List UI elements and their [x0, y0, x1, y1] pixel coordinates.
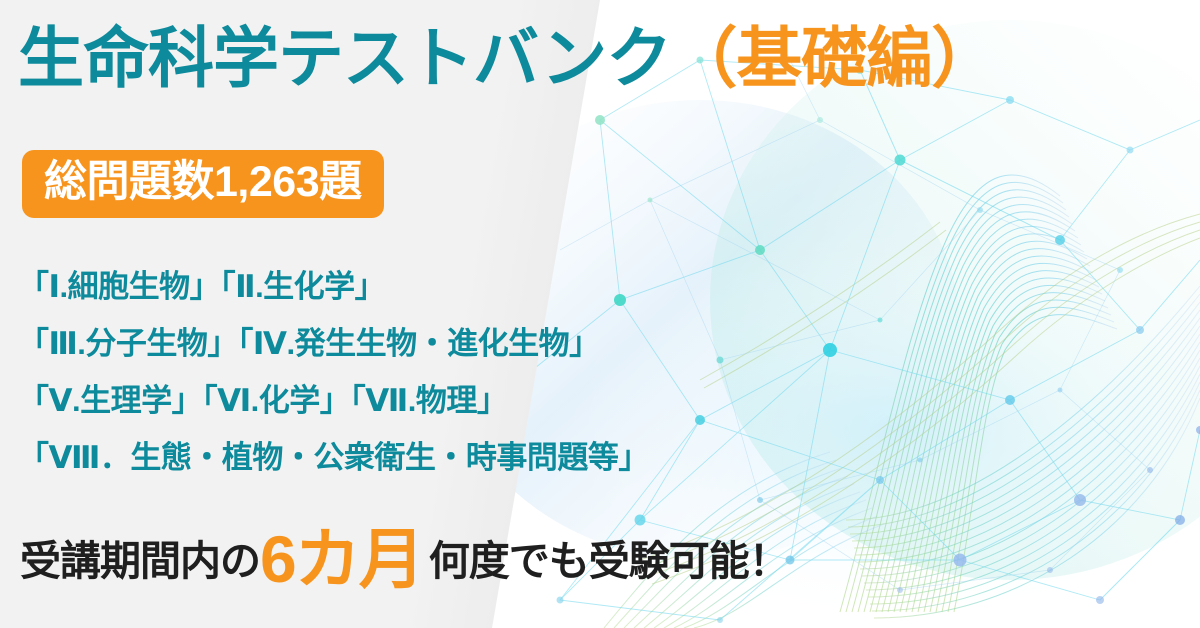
page-title: 生命科学テストバンク（基礎編） — [18, 24, 996, 93]
subject-line-2: 「Ⅲ.分子生物」「Ⅳ.発生生物・進化生物」 — [18, 315, 649, 372]
subject-line-3: 「Ⅴ.生理学」「Ⅵ.化学」「Ⅶ.物理」 — [18, 372, 649, 429]
tagline-lead: 受講期間内の — [20, 538, 260, 584]
question-count-badge: 総問題数1,263題 — [22, 150, 384, 218]
promo-banner: 生命科学テストバンク（基礎編） 総問題数1,263題 「Ⅰ.細胞生物」「Ⅱ.生化… — [0, 0, 1200, 628]
subject-list: 「Ⅰ.細胞生物」「Ⅱ.生化学」 「Ⅲ.分子生物」「Ⅳ.発生生物・進化生物」 「Ⅴ… — [18, 258, 649, 486]
subject-line-4: 「Ⅷ．生態・植物・公衆衛生・時事問題等」 — [18, 429, 649, 486]
banner-content: 生命科学テストバンク（基礎編） 総問題数1,263題 「Ⅰ.細胞生物」「Ⅱ.生化… — [0, 0, 1200, 628]
tagline: 受講期間内の6カ月何度でも受験可能！ — [20, 526, 789, 592]
tagline-tail: 何度でも受験可能！ — [429, 538, 789, 584]
title-accent: （基礎編） — [671, 21, 996, 95]
subject-line-1: 「Ⅰ.細胞生物」「Ⅱ.生化学」 — [18, 258, 649, 315]
tagline-highlight: 6カ月 — [260, 522, 423, 596]
title-main: 生命科学テストバンク — [18, 21, 671, 95]
